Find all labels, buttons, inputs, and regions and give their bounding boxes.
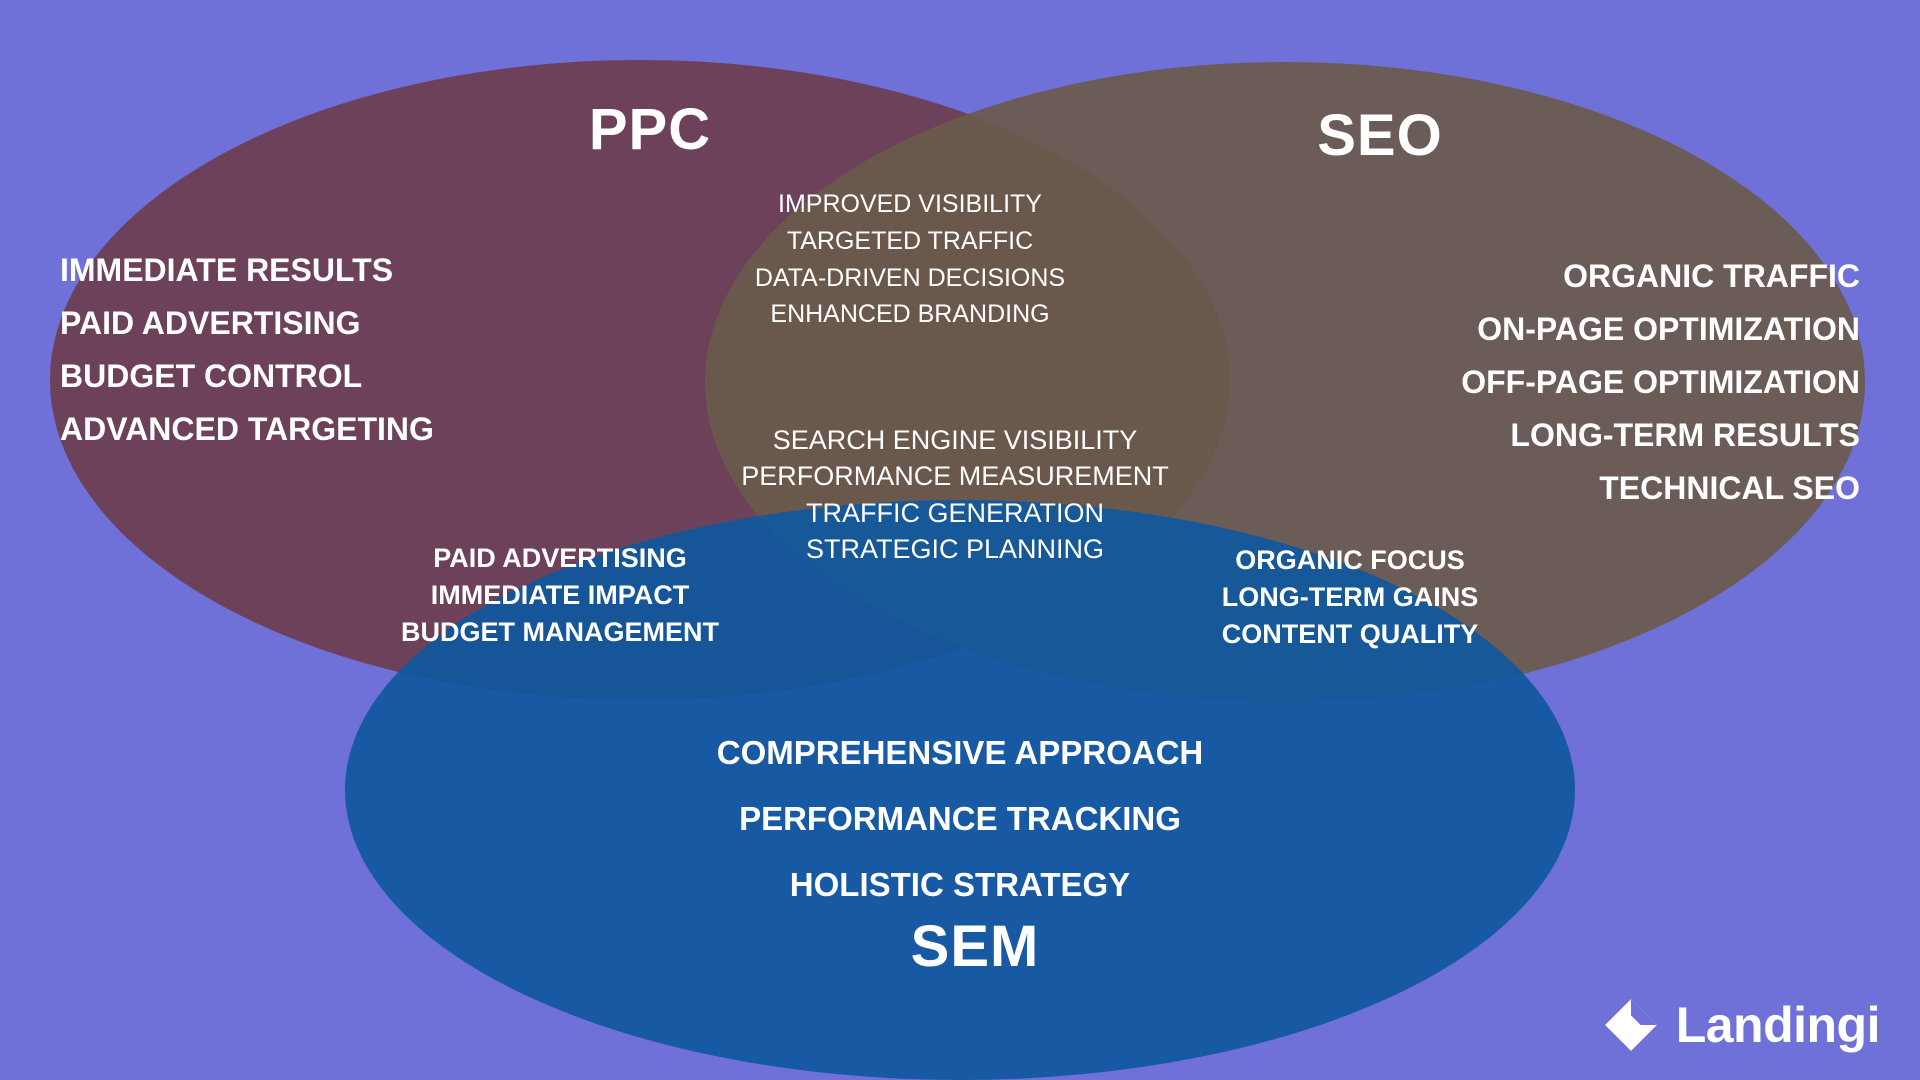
venn-diagram-canvas: PPC SEO SEM IMMEDIATE RESULTS PAID ADVER… bbox=[0, 0, 1920, 1080]
landingi-wordmark: Landingi bbox=[1676, 1000, 1880, 1050]
diamond-logo-icon bbox=[1604, 998, 1658, 1052]
sem-ellipse bbox=[345, 500, 1575, 1080]
landingi-logo: Landingi bbox=[1604, 998, 1880, 1052]
venn-ellipses bbox=[0, 0, 1920, 1080]
